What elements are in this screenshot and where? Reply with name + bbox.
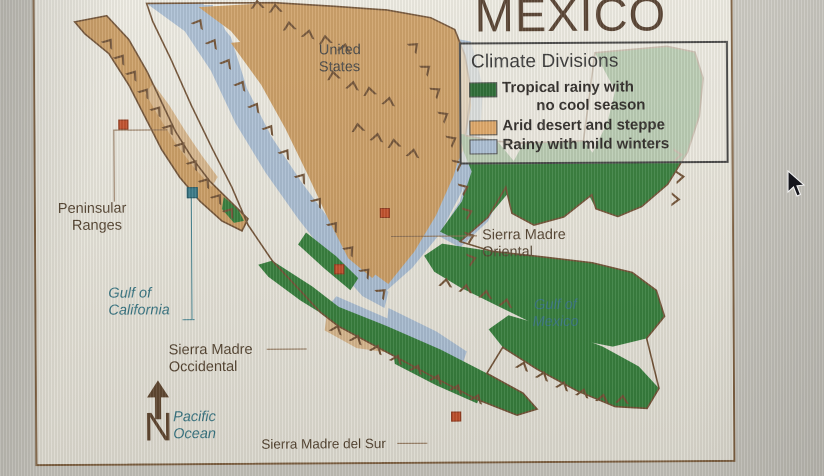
legend-item-tropical-rainy: Tropical rainy with no cool season [469,78,718,116]
mouse-cursor-icon [786,170,806,200]
leader-sierra-madre-del-sur [397,443,427,444]
map-title: MEXICO [475,0,667,42]
label-gulf-of-mexico-line2: Mexico [533,313,579,330]
marker-city-south [451,412,461,422]
label-sierra-madre-oriental-line1: Sierra Madre [482,227,566,244]
label-gulf-of-california-line2: California [108,302,169,319]
label-sierra-madre-occidental: Sierra Madre Occidental [169,342,253,376]
north-arrow-letter: N [135,407,181,447]
label-peninsular-ranges: Peninsular Ranges [58,201,127,234]
marker-city-central [380,208,390,218]
screenshot-canvas: MEXICO Climate Divisions Tropical rainy … [0,0,824,476]
label-peninsular-ranges-line1: Peninsular [58,201,127,218]
label-united-states-line1: United [319,42,361,59]
legend-item-rainy-mild-winters: Rainy with mild winters [469,135,718,155]
legend-title: Climate Divisions [471,50,718,74]
legend-swatch-arid-desert-steppe [469,120,497,135]
label-gulf-of-california: Gulf of California [108,285,169,318]
marker-city-west [334,264,344,274]
label-sierra-madre-occidental-line1: Sierra Madre [169,342,253,359]
label-gulf-of-california-line1: Gulf of [108,285,169,302]
legend-label-rainy-mild-winters: Rainy with mild winters [502,135,669,154]
label-united-states-line2: States [319,59,361,76]
label-sierra-madre-oriental-line2: Oriental [482,243,566,260]
legend-swatch-tropical-rainy [469,82,497,97]
legend-climate-divisions: Climate Divisions Tropical rainy with no… [459,41,729,165]
label-united-states: United States [319,42,361,75]
map-figure: MEXICO Climate Divisions Tropical rainy … [33,0,736,466]
legend-label-tropical-rainy: Tropical rainy with no cool season [502,78,645,115]
legend-swatch-rainy-mild-winters [469,139,497,154]
marker-gulf-of-california [187,187,198,198]
label-sierra-madre-del-sur: Sierra Madre del Sur [261,436,386,452]
legend-label-line2: no cool season [502,97,645,116]
label-sierra-madre-occidental-line2: Occidental [169,358,253,375]
legend-item-arid-desert-steppe: Arid desert and steppe [469,116,718,136]
legend-label-arid-desert-steppe: Arid desert and steppe [502,116,665,135]
leader-gulf-of-california-tick [183,319,195,320]
north-arrow: N [135,379,181,457]
legend-label-line1: Tropical rainy with [502,78,634,96]
label-sierra-madre-oriental: Sierra Madre Oriental [482,227,566,261]
marker-city-baja [118,120,128,130]
label-peninsular-ranges-line2: Ranges [58,217,127,234]
label-gulf-of-mexico: Gulf of Mexico [532,297,578,330]
label-gulf-of-mexico-line1: Gulf of [532,297,578,314]
